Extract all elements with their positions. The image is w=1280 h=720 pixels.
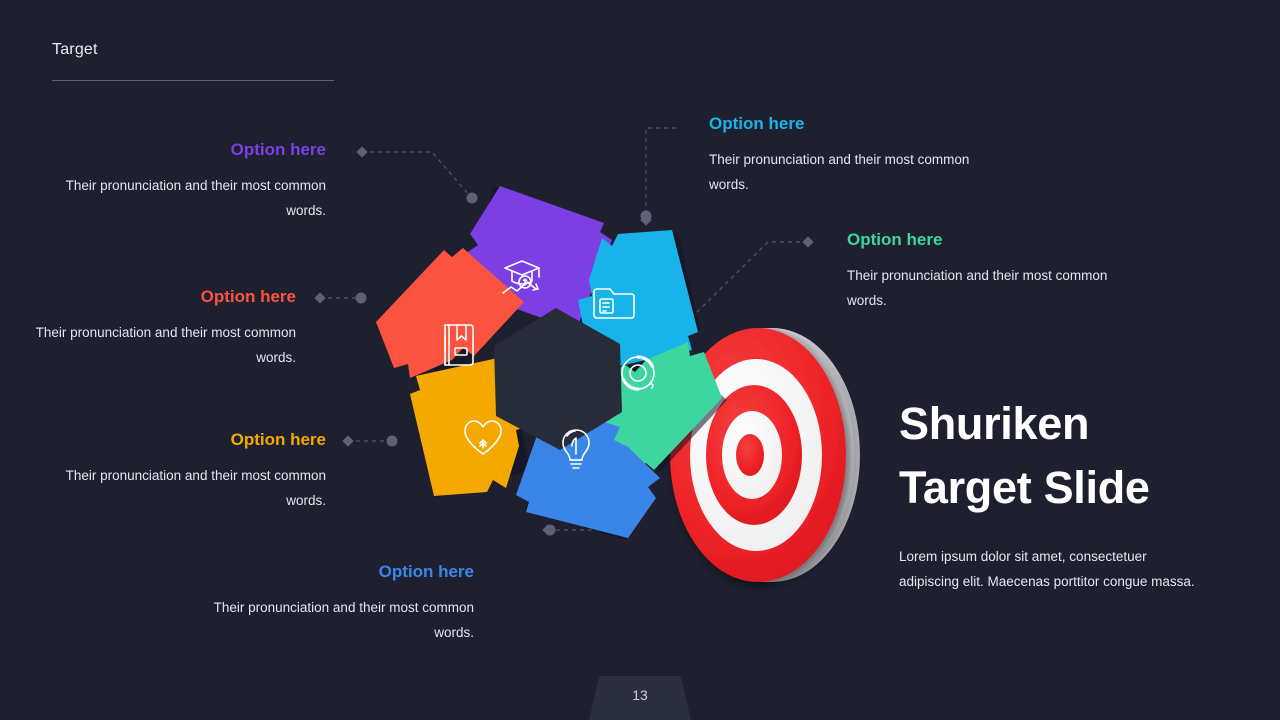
- option-red[interactable]: Option here Their pronunciation and thei…: [24, 287, 296, 371]
- option-title: Option here: [709, 114, 1009, 134]
- option-title: Option here: [847, 230, 1147, 250]
- option-body: Their pronunciation and their most commo…: [24, 321, 296, 371]
- option-title: Option here: [24, 287, 296, 307]
- option-title: Option here: [24, 140, 326, 160]
- headline-line-1: Shuriken: [899, 392, 1229, 456]
- connector-green: [689, 242, 808, 320]
- headline-body-text: Lorem ipsum dolor sit amet, consectetuer…: [899, 545, 1204, 595]
- headline-line-2: Target Slide: [899, 456, 1229, 520]
- slide-canvas: Target: [0, 0, 1280, 720]
- option-body: Their pronunciation and their most commo…: [24, 174, 326, 224]
- option-green[interactable]: Option here Their pronunciation and thei…: [847, 230, 1147, 314]
- option-body: Their pronunciation and their most commo…: [847, 264, 1147, 314]
- connector-purple: [362, 152, 470, 196]
- option-body: Their pronunciation and their most commo…: [24, 464, 326, 514]
- option-title: Option here: [172, 562, 474, 582]
- option-body: Their pronunciation and their most commo…: [709, 148, 1009, 198]
- option-title: Option here: [24, 430, 326, 450]
- option-orange[interactable]: Option here Their pronunciation and thei…: [24, 430, 326, 514]
- connector-cyan: [646, 128, 676, 220]
- option-purple[interactable]: Option here Their pronunciation and thei…: [24, 140, 326, 224]
- slide-headline: Shuriken Target Slide: [899, 392, 1229, 520]
- option-body: Their pronunciation and their most commo…: [172, 596, 474, 646]
- page-number: 13: [589, 687, 691, 703]
- option-blue[interactable]: Option here Their pronunciation and thei…: [172, 562, 474, 646]
- option-cyan[interactable]: Option here Their pronunciation and thei…: [709, 114, 1009, 198]
